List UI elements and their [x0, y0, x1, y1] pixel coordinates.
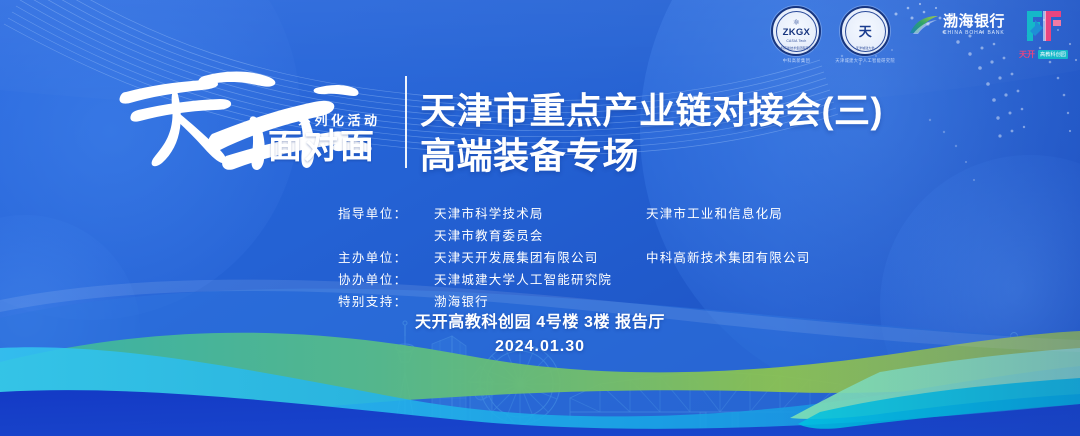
event-banner: ⚛ ZKGX CASIA Tech 中科高新技术集团有限公司 中科高新集团 天 … — [0, 0, 1080, 436]
masthead: 系列化活动 面对面 — [108, 48, 408, 173]
university-mark-glyph: 天 — [859, 25, 872, 38]
venue-info: 天开高教科创园 4号楼 3楼 报告厅 2024.01.30 — [0, 308, 1080, 356]
organizer-row: 指导单位： 天津市科学技术局 天津市工业和信息化局 — [338, 203, 810, 222]
venue-date: 2024.01.30 — [0, 338, 1080, 356]
venue-place: 天开高教科创园 4号楼 3楼 报告厅 — [0, 308, 1080, 332]
tiankai-park-caption: 天开 高教科创园 — [1019, 49, 1068, 60]
event-title: 天津市重点产业链对接会(三) 高端装备专场 — [420, 88, 883, 179]
bohai-swoosh-icon — [909, 14, 939, 36]
organizer-row: 天津市教育委员会 — [338, 225, 810, 244]
bohai-bank-name-cn: 渤海银行 — [943, 14, 1005, 29]
university-caption: 天津城建大学人工智能研究院 — [835, 58, 895, 65]
zkgx-caption: 中科高新集团 — [783, 58, 811, 65]
university-seal-icon: 天 天津城建大学 — [840, 6, 890, 56]
logo-tiankai-park: 天开 高教科创园 — [1019, 6, 1068, 60]
bohai-bank-name-en: CHINA BOHAI BANK — [943, 31, 1005, 36]
series-label: 系列化活动 — [298, 110, 381, 129]
organizer-value: 天津市科学技术局 — [434, 203, 646, 222]
title-line-1: 天津市重点产业链对接会(三) — [420, 88, 883, 133]
organizer-label: 主办单位： — [338, 247, 434, 266]
organizer-value-secondary: 中科高新技术集团有限公司 — [646, 247, 810, 266]
logo-zkgx: ⚛ ZKGX CASIA Tech 中科高新技术集团有限公司 中科高新集团 — [771, 6, 821, 64]
park-caption-secondary: 高教科创园 — [1038, 50, 1068, 59]
organizer-list: 指导单位： 天津市科学技术局 天津市工业和信息化局 天津市教育委员会 主办单位：… — [338, 203, 810, 310]
title-line-2: 高端装备专场 — [420, 133, 883, 178]
logo-university: 天 天津城建大学 天津城建大学人工智能研究院 — [835, 6, 895, 64]
zkgx-mark-glyph: ⚛ — [793, 19, 800, 27]
logo-bohai-bank: 渤海银行 CHINA BOHAI BANK — [909, 14, 1005, 36]
organizer-value: 天津城建大学人工智能研究院 — [434, 269, 646, 288]
calligraphy-logo: 系列化活动 面对面 — [108, 48, 408, 173]
title-divider — [405, 76, 407, 168]
zkgx-arc-text: 中科高新技术集团有限公司 — [773, 46, 819, 50]
organizer-row: 主办单位： 天津天开发展集团有限公司 中科高新技术集团有限公司 — [338, 247, 810, 266]
university-arc-text: 天津城建大学 — [842, 46, 888, 50]
organizer-value: 天津市教育委员会 — [434, 225, 646, 244]
tiankai-park-mark-icon — [1024, 6, 1064, 46]
organizer-label: 指导单位： — [338, 203, 434, 222]
face-to-face-label: 面对面 — [268, 130, 376, 164]
sponsor-logo-strip: ⚛ ZKGX CASIA Tech 中科高新技术集团有限公司 中科高新集团 天 … — [771, 6, 1068, 64]
zkgx-subtext: CASIA Tech — [786, 39, 806, 43]
zkgx-seal-icon: ⚛ ZKGX CASIA Tech 中科高新技术集团有限公司 — [771, 6, 821, 56]
organizer-row: 协办单位： 天津城建大学人工智能研究院 — [338, 269, 810, 288]
organizer-value-secondary: 天津市工业和信息化局 — [646, 203, 783, 222]
organizer-value: 天津天开发展集团有限公司 — [434, 247, 646, 266]
park-caption-primary: 天开 — [1019, 49, 1035, 60]
zkgx-acronym: ZKGX — [783, 28, 811, 38]
organizer-label: 协办单位： — [338, 269, 434, 288]
